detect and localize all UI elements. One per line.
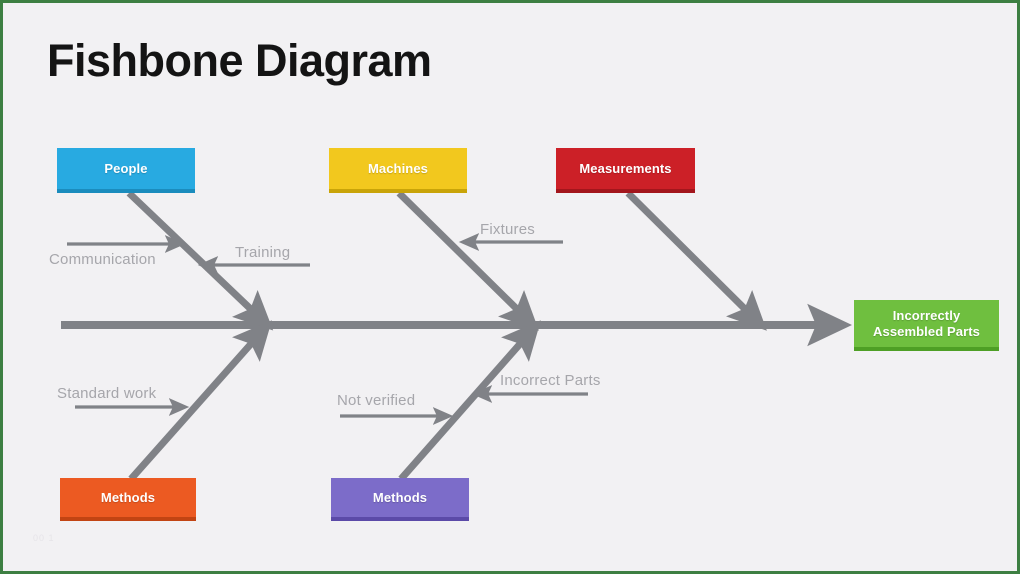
category-box-methods-center[interactable]: Methods: [331, 478, 469, 521]
cause-label-standard-work: Standard work: [57, 385, 156, 402]
category-box-measurements[interactable]: Measurements: [556, 148, 695, 193]
category-box-people[interactable]: People: [57, 148, 195, 193]
category-box-machines[interactable]: Machines: [329, 148, 467, 193]
effect-label-line2: Assembled Parts: [867, 324, 986, 340]
cause-label-training: Training: [235, 244, 290, 261]
effect-label-line1: Incorrectly: [887, 308, 967, 324]
category-label-machines: Machines: [362, 161, 434, 177]
cause-label-incorrect-parts: Incorrect Parts: [500, 372, 601, 389]
watermark: 00 1: [33, 533, 55, 543]
category-label-measurements: Measurements: [573, 161, 677, 177]
slide-canvas: Fishbone Diagram: [0, 0, 1020, 574]
category-label-methods-left: Methods: [95, 490, 161, 506]
category-box-methods-left[interactable]: Methods: [60, 478, 196, 521]
cause-label-communication: Communication: [49, 251, 156, 268]
category-label-people: People: [98, 161, 153, 177]
bone-methods-center: [401, 336, 527, 479]
bone-measurements: [628, 193, 752, 316]
effect-box-incorrectly-assembled-parts[interactable]: Incorrectly Assembled Parts: [854, 300, 999, 351]
cause-label-not-verified: Not verified: [337, 392, 415, 409]
category-label-methods-center: Methods: [367, 490, 433, 506]
cause-label-fixtures: Fixtures: [480, 221, 535, 238]
bone-machines: [399, 193, 524, 316]
